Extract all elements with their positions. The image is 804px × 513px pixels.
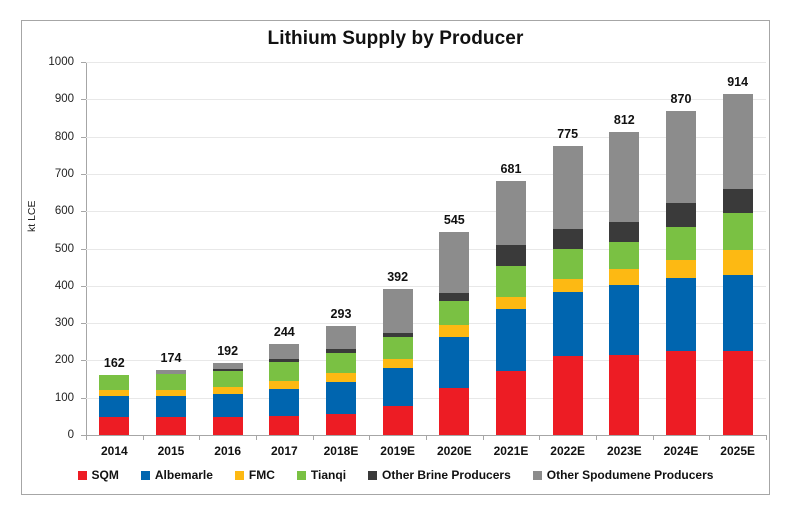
legend-item[interactable]: Albemarle xyxy=(141,468,213,482)
bar-segment-fmc[interactable] xyxy=(383,359,413,368)
bar-segment-sqm[interactable] xyxy=(723,351,753,435)
y-tick-label: 100 xyxy=(28,392,74,404)
bar-segment-albemarle[interactable] xyxy=(553,292,583,356)
x-tick-label: 2020E xyxy=(437,444,472,458)
bar-segment-other-spodumene-producers[interactable] xyxy=(666,111,696,204)
stacked-bar[interactable] xyxy=(723,94,753,435)
x-tick-mark xyxy=(256,435,257,440)
bar-segment-tianqi[interactable] xyxy=(666,227,696,261)
x-tick-mark xyxy=(426,435,427,440)
x-tick-mark xyxy=(596,435,597,440)
bar-group[interactable]: 5452020E xyxy=(426,62,483,435)
legend-swatch-icon xyxy=(78,471,87,480)
stacked-bar[interactable] xyxy=(326,326,356,435)
bar-segment-other-brine-producers[interactable] xyxy=(609,222,639,242)
bar-total-label: 244 xyxy=(274,325,295,339)
bar-segment-other-brine-producers[interactable] xyxy=(666,203,696,226)
bar-segment-sqm[interactable] xyxy=(156,417,186,435)
bar-total-label: 775 xyxy=(557,127,578,141)
bar-segment-fmc[interactable] xyxy=(723,250,753,274)
bar-segment-other-spodumene-producers[interactable] xyxy=(326,326,356,349)
x-tick-mark xyxy=(369,435,370,440)
bar-segment-tianqi[interactable] xyxy=(269,362,299,380)
stacked-bar[interactable] xyxy=(99,375,129,435)
bar-segment-albemarle[interactable] xyxy=(269,389,299,416)
y-tick-label: 300 xyxy=(28,317,74,329)
stacked-bar[interactable] xyxy=(666,111,696,435)
y-tick-label: 1000 xyxy=(28,56,74,68)
plot-area: 01002003004005006007008009001000 1622014… xyxy=(86,62,766,435)
bar-segment-sqm[interactable] xyxy=(383,406,413,435)
bar-segment-fmc[interactable] xyxy=(269,381,299,389)
bar-segment-sqm[interactable] xyxy=(326,414,356,435)
bar-segment-tianqi[interactable] xyxy=(383,337,413,359)
bar-segment-fmc[interactable] xyxy=(609,269,639,285)
legend-swatch-icon xyxy=(141,471,150,480)
bar-segment-tianqi[interactable] xyxy=(553,249,583,279)
bar-total-label: 192 xyxy=(217,344,238,358)
stacked-bar[interactable] xyxy=(553,146,583,435)
bar-segment-sqm[interactable] xyxy=(666,351,696,435)
bar-group[interactable]: 8702024E xyxy=(653,62,710,435)
bar-segment-other-spodumene-producers[interactable] xyxy=(439,232,469,293)
x-tick-label: 2017 xyxy=(271,444,298,458)
bar-group[interactable]: 3922019E xyxy=(369,62,426,435)
legend-label: Albemarle xyxy=(155,468,213,482)
bar-segment-fmc[interactable] xyxy=(213,387,243,394)
legend-label: SQM xyxy=(92,468,119,482)
bar-group[interactable]: 6812021E xyxy=(483,62,540,435)
bar-segment-other-spodumene-producers[interactable] xyxy=(269,344,299,359)
x-tick-mark xyxy=(766,435,767,440)
bar-group[interactable]: 2932018E xyxy=(313,62,370,435)
bar-segment-fmc[interactable] xyxy=(666,260,696,278)
bar-total-label: 914 xyxy=(727,75,748,89)
bar-segment-tianqi[interactable] xyxy=(99,375,129,390)
x-tick-label: 2023E xyxy=(607,444,642,458)
bar-segment-sqm[interactable] xyxy=(99,417,129,435)
x-tick-label: 2016 xyxy=(214,444,241,458)
bar-total-label: 812 xyxy=(614,113,635,127)
bar-group[interactable]: 7752022E xyxy=(539,62,596,435)
bar-segment-other-brine-producers[interactable] xyxy=(496,245,526,266)
stacked-bar[interactable] xyxy=(496,181,526,435)
bar-segment-other-spodumene-producers[interactable] xyxy=(383,289,413,333)
bar-group[interactable]: 1922016 xyxy=(199,62,256,435)
stacked-bar[interactable] xyxy=(269,344,299,435)
chart-canvas: Lithium Supply by Producer kt LCE 010020… xyxy=(0,0,804,513)
x-tick-mark xyxy=(483,435,484,440)
legend-label: Tianqi xyxy=(311,468,346,482)
y-tick-label: 200 xyxy=(28,354,74,366)
bar-total-label: 545 xyxy=(444,213,465,227)
bar-segment-other-brine-producers[interactable] xyxy=(553,229,583,248)
bar-segment-other-spodumene-producers[interactable] xyxy=(553,146,583,229)
bar-segment-sqm[interactable] xyxy=(553,356,583,435)
legend-label: FMC xyxy=(249,468,275,482)
bar-group[interactable]: 1742015 xyxy=(143,62,200,435)
bar-segment-other-spodumene-producers[interactable] xyxy=(609,132,639,222)
legend-swatch-icon xyxy=(368,471,377,480)
bar-segment-albemarle[interactable] xyxy=(723,275,753,351)
stacked-bar[interactable] xyxy=(213,363,243,435)
y-tick-label: 700 xyxy=(28,168,74,180)
bar-segment-fmc[interactable] xyxy=(326,373,356,382)
x-tick-label: 2024E xyxy=(664,444,699,458)
bar-segment-albemarle[interactable] xyxy=(326,382,356,414)
x-tick-label: 2015 xyxy=(158,444,185,458)
chart-title: Lithium Supply by Producer xyxy=(21,28,770,50)
bar-segment-tianqi[interactable] xyxy=(326,353,356,374)
bar-group[interactable]: 8122023E xyxy=(596,62,653,435)
bar-segment-other-spodumene-producers[interactable] xyxy=(496,181,526,245)
bar-segment-albemarle[interactable] xyxy=(156,396,186,418)
x-tick-label: 2021E xyxy=(494,444,529,458)
x-tick-mark xyxy=(539,435,540,440)
legend-item[interactable]: FMC xyxy=(235,468,275,482)
legend-item[interactable]: Other Spodumene Producers xyxy=(533,468,714,482)
x-tick-label: 2018E xyxy=(324,444,359,458)
legend-label: Other Brine Producers xyxy=(382,468,511,482)
bar-segment-sqm[interactable] xyxy=(269,416,299,435)
bar-group[interactable]: 1622014 xyxy=(86,62,143,435)
stacked-bar[interactable] xyxy=(439,232,469,435)
bar-group[interactable]: 9142025E xyxy=(709,62,766,435)
x-tick-mark xyxy=(199,435,200,440)
y-tick-label: 600 xyxy=(28,205,74,217)
bar-total-label: 870 xyxy=(671,92,692,106)
y-tick-label: 800 xyxy=(28,131,74,143)
bar-segment-fmc[interactable] xyxy=(496,297,526,310)
bar-total-label: 392 xyxy=(387,270,408,284)
bar-segment-albemarle[interactable] xyxy=(213,394,243,417)
legend-item[interactable]: Tianqi xyxy=(297,468,346,482)
x-tick-label: 2025E xyxy=(720,444,755,458)
chart-legend: SQMAlbemarleFMCTianqiOther Brine Produce… xyxy=(21,468,770,482)
legend-swatch-icon xyxy=(235,471,244,480)
bar-segment-sqm[interactable] xyxy=(439,388,469,435)
bar-segment-sqm[interactable] xyxy=(609,355,639,435)
bar-total-label: 162 xyxy=(104,356,125,370)
bar-group[interactable]: 2442017 xyxy=(256,62,313,435)
y-tick-label: 400 xyxy=(28,280,74,292)
legend-item[interactable]: SQM xyxy=(78,468,119,482)
legend-swatch-icon xyxy=(533,471,542,480)
bar-segment-other-brine-producers[interactable] xyxy=(439,293,469,301)
x-tick-mark xyxy=(653,435,654,440)
bar-segment-tianqi[interactable] xyxy=(213,371,243,387)
x-tick-mark xyxy=(86,435,87,440)
y-tick-label: 900 xyxy=(28,93,74,105)
bar-total-label: 174 xyxy=(161,351,182,365)
bar-segment-tianqi[interactable] xyxy=(609,242,639,269)
legend-item[interactable]: Other Brine Producers xyxy=(368,468,511,482)
y-tick-label: 0 xyxy=(28,429,74,441)
bar-segment-sqm[interactable] xyxy=(213,417,243,435)
bar-segment-tianqi[interactable] xyxy=(156,374,186,390)
bar-segment-tianqi[interactable] xyxy=(496,266,526,297)
x-tick-mark xyxy=(313,435,314,440)
bar-segment-fmc[interactable] xyxy=(439,325,469,337)
bar-segment-tianqi[interactable] xyxy=(439,301,469,325)
bar-segment-albemarle[interactable] xyxy=(609,285,639,354)
x-tick-mark xyxy=(143,435,144,440)
bar-segment-albemarle[interactable] xyxy=(99,396,129,418)
x-tick-label: 2014 xyxy=(101,444,128,458)
x-tick-mark xyxy=(709,435,710,440)
bar-segment-fmc[interactable] xyxy=(553,279,583,292)
x-tick-label: 2019E xyxy=(380,444,415,458)
bar-segment-albemarle[interactable] xyxy=(496,309,526,371)
bar-segment-other-spodumene-producers[interactable] xyxy=(723,94,753,189)
bar-segment-albemarle[interactable] xyxy=(439,337,469,388)
stacked-bar[interactable] xyxy=(383,289,413,435)
bar-segment-tianqi[interactable] xyxy=(723,213,753,250)
bar-total-label: 293 xyxy=(331,307,352,321)
stacked-bar[interactable] xyxy=(609,132,639,435)
bar-total-label: 681 xyxy=(501,162,522,176)
y-tick-label: 500 xyxy=(28,243,74,255)
bar-segment-sqm[interactable] xyxy=(496,371,526,435)
x-tick-label: 2022E xyxy=(550,444,585,458)
bar-segment-other-brine-producers[interactable] xyxy=(723,189,753,213)
legend-swatch-icon xyxy=(297,471,306,480)
bar-segment-albemarle[interactable] xyxy=(666,278,696,351)
stacked-bar[interactable] xyxy=(156,370,186,435)
bar-segment-albemarle[interactable] xyxy=(383,368,413,405)
legend-label: Other Spodumene Producers xyxy=(547,468,714,482)
